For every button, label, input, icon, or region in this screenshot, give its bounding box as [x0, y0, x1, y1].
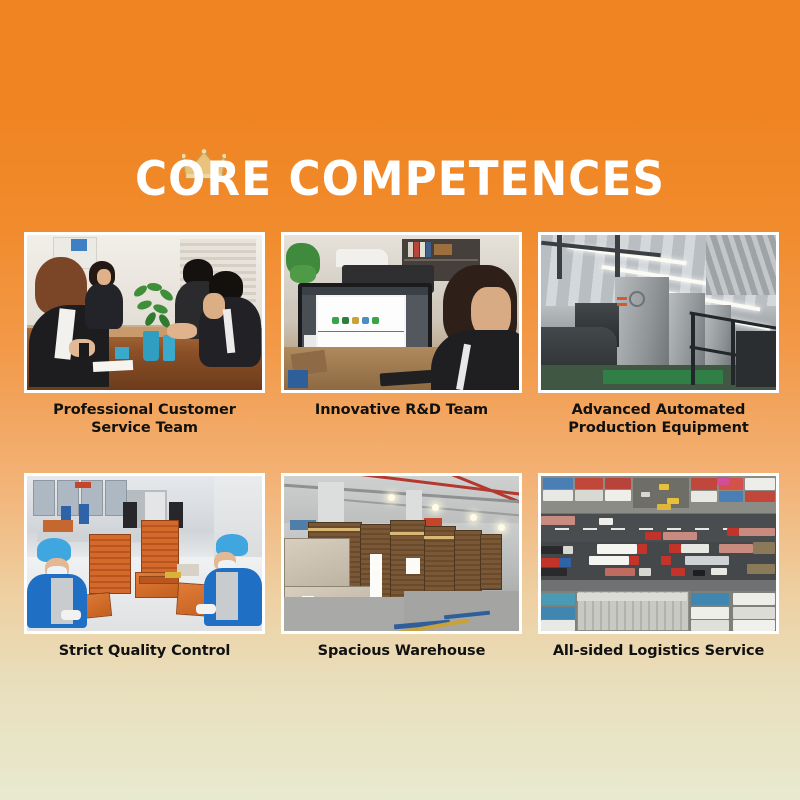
caption-line: Service Team	[91, 420, 198, 436]
photo-spacious-warehouse	[281, 473, 522, 634]
caption-all-sided-logistics-service: All-sided Logistics Service	[538, 642, 779, 660]
photo-strict-quality-control	[24, 473, 265, 634]
caption-line: Advanced Automated	[572, 402, 746, 418]
caption-spacious-warehouse: Spacious Warehouse	[281, 642, 522, 660]
photo-all-sided-logistics-service	[538, 473, 779, 634]
grid-row-1: Professional Customer Service Team	[24, 232, 780, 437]
caption-advanced-automated-production-equipment: Advanced Automated Production Equipment	[538, 401, 779, 437]
cell-spacious-warehouse[interactable]: Spacious Warehouse	[281, 473, 522, 660]
page-title: CORE COMPETENCES	[135, 152, 665, 208]
core-competences-banner: CORE COMPETENCES	[0, 0, 800, 800]
caption-strict-quality-control: Strict Quality Control	[24, 642, 265, 660]
caption-line: Professional Customer	[53, 402, 236, 418]
cell-innovative-rd-team[interactable]: Innovative R&D Team	[281, 232, 522, 437]
caption-line: Innovative R&D Team	[315, 402, 488, 418]
photo-innovative-rd-team	[281, 232, 522, 393]
cell-strict-quality-control[interactable]: Strict Quality Control	[24, 473, 265, 660]
grid-row-2: Strict Quality Control	[24, 473, 780, 660]
caption-professional-customer-service-team: Professional Customer Service Team	[24, 401, 265, 437]
caption-line: All-sided Logistics Service	[553, 643, 764, 659]
cell-professional-customer-service-team[interactable]: Professional Customer Service Team	[24, 232, 265, 437]
caption-line: Production Equipment	[568, 420, 748, 436]
caption-line: Strict Quality Control	[59, 643, 231, 659]
caption-innovative-rd-team: Innovative R&D Team	[281, 401, 522, 419]
photo-advanced-automated-production-equipment	[538, 232, 779, 393]
cell-all-sided-logistics-service[interactable]: All-sided Logistics Service	[538, 473, 779, 660]
photo-professional-customer-service-team	[24, 232, 265, 393]
competences-grid: Professional Customer Service Team	[24, 232, 780, 660]
page-title-block: CORE COMPETENCES	[0, 152, 800, 208]
caption-line: Spacious Warehouse	[318, 643, 486, 659]
cell-advanced-automated-production-equipment[interactable]: Advanced Automated Production Equipment	[538, 232, 779, 437]
